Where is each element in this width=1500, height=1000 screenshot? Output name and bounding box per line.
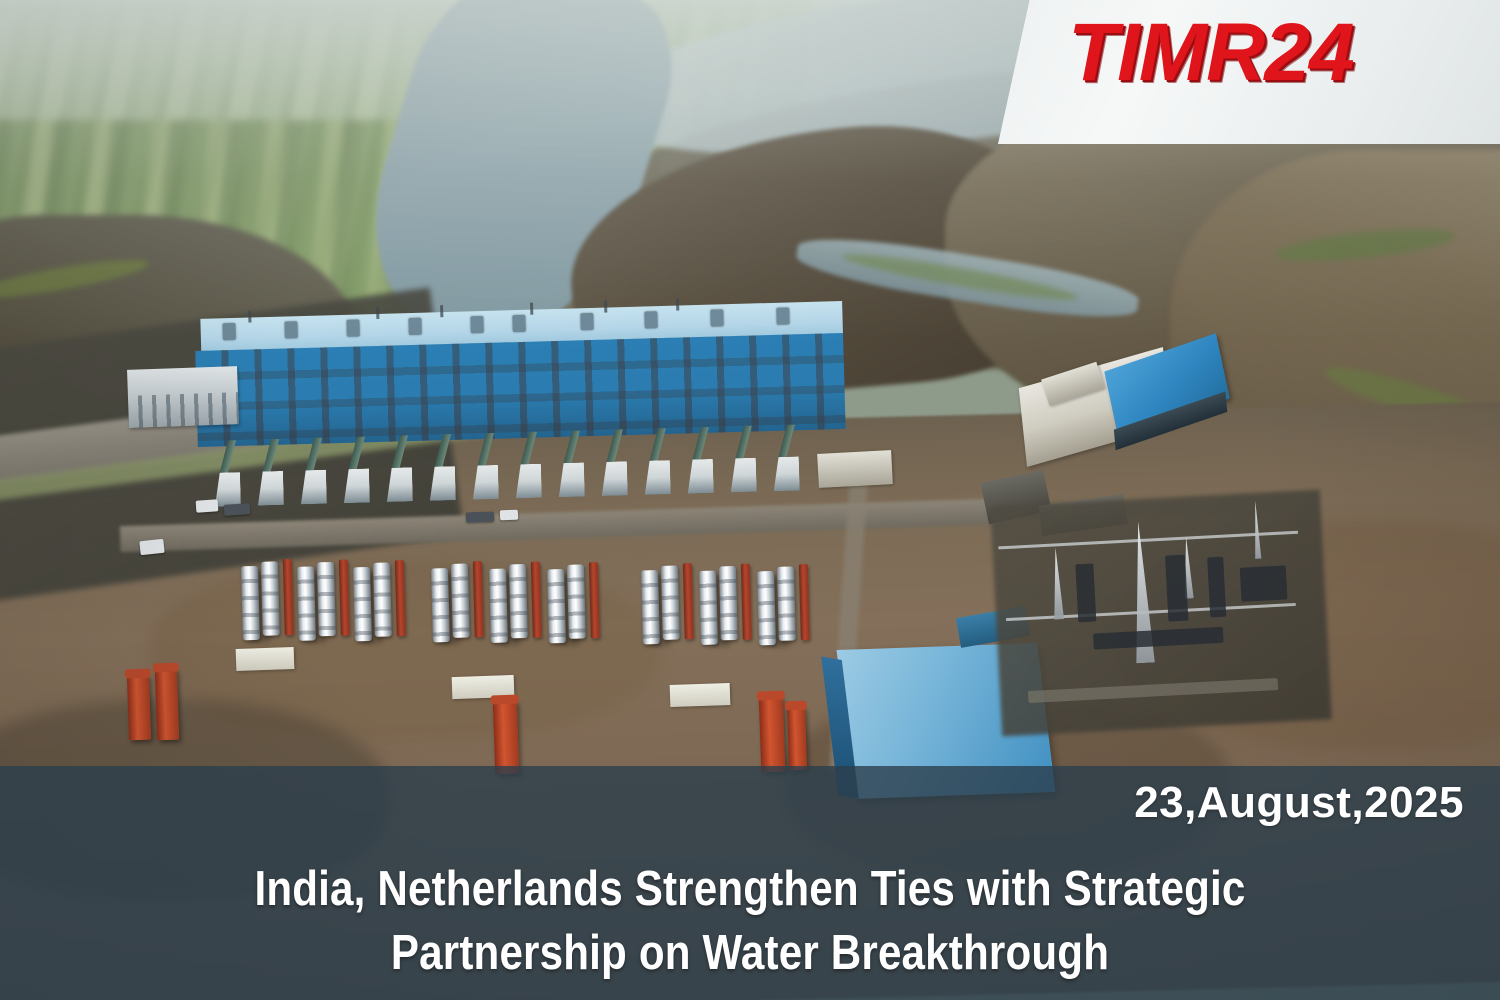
red-pillar-5 [787, 706, 807, 771]
vehicle [196, 499, 219, 513]
roof-stack [530, 303, 533, 315]
pipe-bay [471, 433, 501, 500]
storage-tank [699, 570, 718, 644]
tank-frame [683, 563, 694, 639]
tank-frame [589, 562, 600, 638]
electrical-switchyard [990, 490, 1332, 737]
vehicle [224, 503, 251, 516]
roof-vent [470, 316, 483, 333]
brand-logo-text: TIMR24 [1068, 6, 1354, 100]
storage-tank [353, 567, 372, 641]
caption-overlay: 23,August,2025 India, Netherlands Streng… [0, 766, 1500, 1000]
storage-tank [661, 565, 680, 639]
storage-tank [373, 562, 392, 636]
roof-stack [440, 305, 443, 317]
roof-vent [222, 323, 235, 340]
roof-stack [248, 310, 251, 322]
red-pillar-3 [493, 700, 520, 775]
tank-frame [339, 560, 350, 636]
roof-vent [346, 319, 359, 336]
switchyard-equipment [1240, 565, 1288, 601]
tank-cluster-left [239, 554, 421, 655]
storage-tank [241, 566, 260, 640]
roof-vent [710, 309, 723, 326]
site-hut-1 [817, 450, 893, 488]
roof-stack [604, 301, 607, 313]
pipe-bay [213, 440, 243, 507]
pipe-bay [385, 435, 415, 502]
pipe-bay [299, 438, 329, 505]
tank-frame [741, 564, 752, 640]
storage-tank [317, 562, 336, 636]
roof-stack [676, 299, 679, 311]
pipe-bay [600, 429, 630, 496]
pipe-bay [514, 432, 544, 499]
tank-frame [799, 564, 810, 640]
storage-tank [509, 564, 528, 638]
storage-tank [757, 571, 776, 645]
pipe-bay [643, 428, 673, 495]
tank-frame [283, 559, 294, 635]
roof-vent [580, 313, 593, 330]
publish-date: 23,August,2025 [1134, 778, 1464, 828]
roof-vent [776, 307, 789, 324]
tank-frame [473, 561, 484, 637]
roof-vent [512, 315, 525, 332]
storage-tank [261, 561, 280, 635]
roof-vent [408, 318, 421, 335]
storage-tank [451, 563, 470, 637]
pipe-bay [772, 424, 802, 491]
roof-stack [376, 307, 379, 319]
storage-tank [777, 566, 796, 640]
vehicle [500, 510, 518, 521]
utility-building-left [127, 366, 239, 428]
vehicle [139, 539, 164, 555]
pipe-bay [428, 434, 458, 501]
storage-tank [719, 566, 738, 640]
switchyard-equipment [1075, 563, 1096, 622]
pipe-bay [256, 439, 286, 506]
storage-tank [297, 566, 316, 640]
pipe-bay [342, 436, 372, 503]
pipe-bay [686, 427, 716, 494]
storage-tank [567, 564, 586, 638]
tank-frame [531, 562, 542, 638]
headline-text: India, Netherlands Strengthen Ties with … [139, 858, 1360, 985]
switchyard-equipment [1207, 557, 1226, 618]
red-pillar-4 [759, 696, 786, 773]
tank-cluster-center [429, 556, 621, 657]
brand-logo-panel[interactable]: TIMR24 [998, 0, 1500, 144]
storage-tank [431, 568, 450, 642]
pipe-bay [557, 430, 587, 497]
storage-tank [547, 569, 566, 643]
red-pillar-2 [155, 668, 179, 741]
red-pillar-1 [127, 674, 151, 741]
storage-tank [641, 570, 660, 644]
storage-tank [489, 568, 508, 642]
pipe-bay [729, 426, 759, 493]
news-graphic-card: TIMR24 23,August,2025 India, Netherlands… [0, 0, 1500, 1000]
tank-frame [395, 560, 406, 636]
roof-vent [284, 321, 297, 338]
tank-cluster-right [639, 558, 831, 659]
switchyard-equipment [1165, 555, 1188, 622]
site-hut-4 [670, 683, 731, 707]
vehicle [466, 512, 494, 523]
roof-vent [644, 311, 657, 328]
